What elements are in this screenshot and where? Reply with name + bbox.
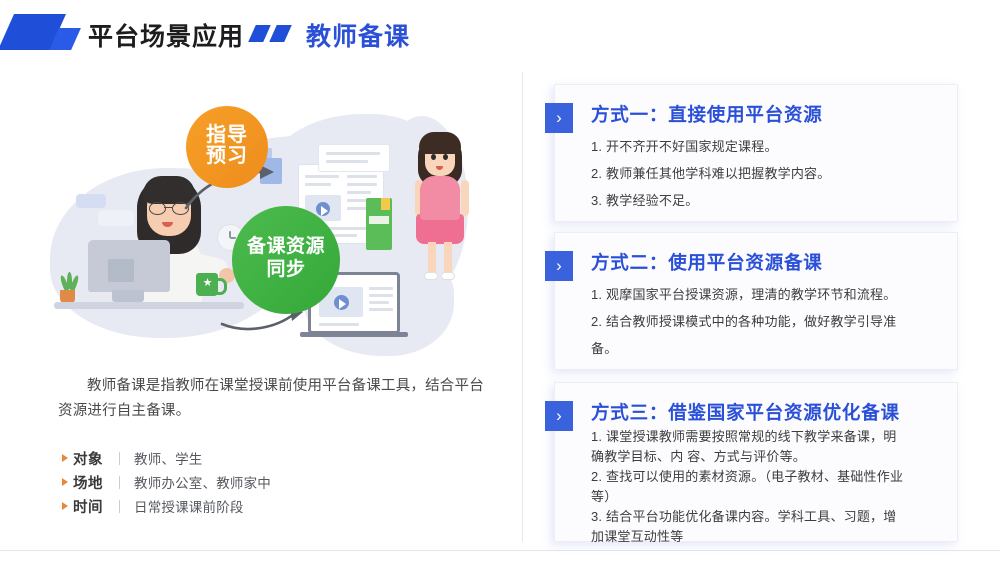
doc-text-line: [305, 175, 339, 178]
bubble-text-line: [326, 160, 368, 163]
doc-text-line: [305, 183, 331, 186]
method-card-3-body: 1. 课堂授课教师需要按照常规的线下教学来备课，明 确教学目标、内 容、方式与评…: [591, 427, 945, 547]
chat-bubble-small-2: [98, 210, 134, 226]
student-girl-arm-right: [461, 180, 469, 216]
green-badge-line-2: 同步: [232, 258, 340, 281]
bottom-divider: [0, 550, 1000, 551]
card-line: 2. 查找可以使用的素材资源。（电子教材、基础性作业: [591, 467, 945, 486]
chevron-right-icon: ›: [545, 251, 573, 281]
glasses-lens-left: [149, 202, 166, 215]
glasses-lens-right: [172, 202, 189, 215]
card-line: 等）: [591, 487, 945, 506]
laptop-text-line: [369, 301, 389, 304]
green-badge-resource-sync: 备课资源 同步: [232, 206, 340, 314]
student-girl-eye-left: [431, 154, 436, 160]
student-girl-leg-right: [444, 242, 452, 274]
page-title: 平台场景应用: [88, 17, 244, 53]
laptop-text-line: [369, 294, 393, 297]
method-card-1-title: 方式一：直接使用平台资源: [591, 101, 823, 127]
summary-text-block: 教师备课是指教师在课堂授课前使用平台备课工具，结合平台资源进行自主备课。: [58, 374, 498, 424]
laptop-text-line: [319, 323, 359, 326]
laptop-base: [300, 332, 408, 337]
meta-separator: [119, 452, 120, 465]
card-line: 3. 结合平台功能优化备课内容。学科工具、习题，增: [591, 507, 945, 526]
doc-text-line: [347, 175, 377, 178]
card-line: 1. 开不齐开不好国家规定课程。: [591, 133, 945, 160]
orange-badge-guide-preview: 指导 预习: [186, 106, 268, 188]
chat-bubble: [318, 144, 390, 172]
student-girl-leg-left: [428, 242, 436, 274]
doc-text-line: [347, 191, 371, 194]
meta-info-list: 对象 教师、学生 场地 教师办公室、教师家中 时间 日常授课课前阶段: [62, 446, 492, 518]
orange-badge-line-1: 指导: [186, 125, 268, 146]
slide-canvas: 平台场景应用 教师备课: [0, 0, 1000, 562]
chevron-right-icon: ›: [545, 103, 573, 133]
meta-label: 场地: [73, 472, 117, 493]
slide-header: 平台场景应用 教师备课: [0, 0, 1000, 64]
list-item: 场地 教师办公室、教师家中: [62, 470, 492, 494]
method-card-1[interactable]: › 方式一：直接使用平台资源 1. 开不齐开不好国家规定课程。 2. 教师兼任其…: [554, 84, 958, 222]
teacher-lesson-preparation-illustration: ★ 指导 预习 备课资源 同步: [36, 76, 506, 366]
brand-parallelogram-logo: [6, 14, 84, 50]
list-item: 对象 教师、学生: [62, 446, 492, 470]
triangle-bullet-icon: [62, 502, 68, 510]
star-icon: ★: [202, 278, 213, 289]
card-line: 加课堂互动性等: [591, 527, 945, 546]
method-card-2-title: 方式二：使用平台资源备课: [591, 249, 823, 275]
meta-value: 日常授课课前阶段: [134, 496, 244, 516]
laptop-play-triangle-icon: [339, 299, 346, 309]
desk-surface: [54, 302, 244, 309]
meta-label: 时间: [73, 496, 117, 517]
triangle-bullet-icon: [62, 478, 68, 486]
meta-value: 教师办公室、教师家中: [134, 472, 271, 492]
student-girl-shoe-right: [441, 272, 455, 280]
card-line: 确教学目标、内 容、方式与评价等。: [591, 447, 945, 466]
double-parallelogram-separator-icon: [252, 25, 298, 42]
orange-badge-line-2: 预习: [186, 146, 268, 167]
method-card-3-title: 方式三：借鉴国家平台资源优化备课: [591, 399, 900, 425]
method-card-2[interactable]: › 方式二：使用平台资源备课 1. 观摩国家平台授课资源，理清的教学环节和流程。…: [554, 232, 958, 370]
card-line: 备。: [591, 335, 945, 362]
separator-bar-1: [248, 25, 271, 42]
green-badge-line-1: 备课资源: [232, 235, 340, 258]
monitor-screen-inner: [108, 259, 134, 282]
textbook-band: [369, 216, 389, 224]
method-card-3[interactable]: › 方式三：借鉴国家平台资源优化备课 1. 课堂授课教师需要按照常规的线下教学来…: [554, 382, 958, 542]
separator-bar-2: [269, 25, 292, 42]
play-triangle-icon: [321, 206, 328, 216]
card-line: 3. 教学经验不足。: [591, 187, 945, 214]
method-card-1-body: 1. 开不齐开不好国家规定课程。 2. 教师兼任其他学科难以把握教学内容。 3.…: [591, 133, 945, 214]
textbook-bookmark: [381, 198, 390, 210]
teacher-fringe: [143, 176, 195, 204]
summary-paragraph: 教师备课是指教师在课堂授课前使用平台备课工具，结合平台资源进行自主备课。: [58, 374, 498, 424]
list-item: 时间 日常授课课前阶段: [62, 494, 492, 518]
chevron-right-icon: ›: [545, 401, 573, 431]
glasses-bridge: [164, 207, 172, 208]
monitor-stand: [112, 290, 144, 302]
student-girl-fringe: [419, 132, 461, 154]
meta-separator: [119, 476, 120, 489]
chat-bubble-small-1: [76, 194, 106, 208]
laptop-text-line: [369, 308, 393, 311]
card-line: 2. 结合教师授课模式中的各种功能，做好教学引导准: [591, 308, 945, 335]
laptop-text-line: [369, 287, 393, 290]
vertical-divider: [522, 72, 523, 542]
triangle-bullet-icon: [62, 454, 68, 462]
teacher-glasses-icon: [148, 202, 190, 213]
page-subtitle: 教师备课: [306, 17, 410, 53]
meta-separator: [119, 500, 120, 513]
card-line: 2. 教师兼任其他学科难以把握教学内容。: [591, 160, 945, 187]
card-line: 1. 观摩国家平台授课资源，理清的教学环节和流程。: [591, 281, 945, 308]
student-girl-shirt: [420, 176, 460, 220]
card-line: 1. 课堂授课教师需要按照常规的线下教学来备课，明: [591, 427, 945, 446]
student-girl-shoe-left: [424, 272, 438, 280]
bubble-text-line: [326, 152, 380, 155]
meta-label: 对象: [73, 448, 117, 469]
method-card-2-body: 1. 观摩国家平台授课资源，理清的教学环节和流程。 2. 结合教师授课模式中的各…: [591, 281, 945, 362]
student-girl-eye-right: [443, 154, 448, 160]
meta-value: 教师、学生: [134, 448, 203, 468]
doc-text-line: [347, 183, 377, 186]
